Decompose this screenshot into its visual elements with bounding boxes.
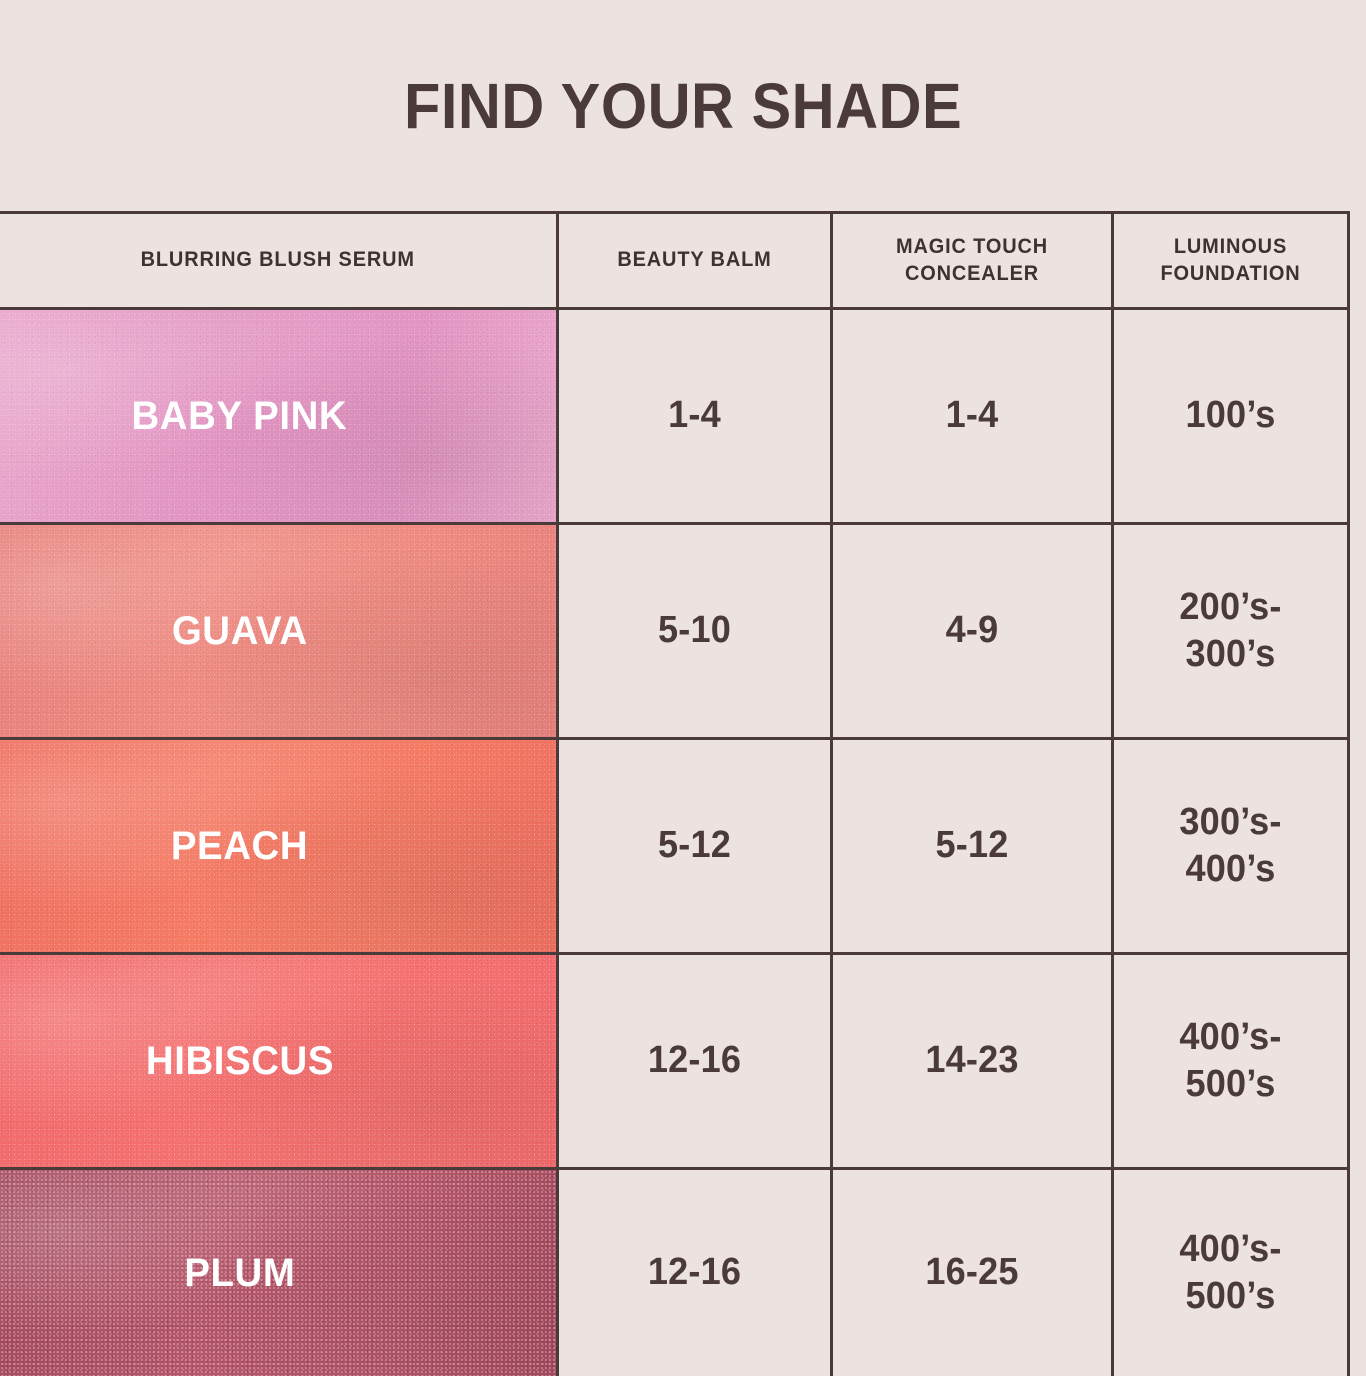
cell-concealer: 14-23 <box>831 954 1112 1169</box>
column-header-concealer-label: MAGIC TOUCH CONCEALER <box>849 234 1094 288</box>
cell-balm: 12-16 <box>557 1169 831 1376</box>
cell-concealer: 5-12 <box>831 739 1112 954</box>
column-header-balm: BEAUTY BALM <box>557 213 831 309</box>
column-header-foundation: LUMINOUS FOUNDATION <box>1112 213 1348 309</box>
cell-value: 14-23 <box>839 1037 1103 1084</box>
swatch-label: PLUM <box>184 1251 295 1296</box>
table-row: GUAVA 5-10 4-9 200’s- 300’s <box>0 524 1348 739</box>
column-header-blush-label: BLURRING BLUSH SERUM <box>23 247 532 274</box>
table-header-row: BLURRING BLUSH SERUM BEAUTY BALM MAGIC T… <box>0 213 1348 309</box>
cell-foundation: 100’s <box>1112 309 1348 524</box>
cell-value: 300’s- 400’s <box>1119 799 1340 893</box>
cell-foundation: 200’s- 300’s <box>1112 524 1348 739</box>
page-title: FIND YOUR SHADE <box>404 74 962 138</box>
cell-concealer: 4-9 <box>831 524 1112 739</box>
table-row: BABY PINK 1-4 1-4 100’s <box>0 309 1348 524</box>
shade-match-table: BLURRING BLUSH SERUM BEAUTY BALM MAGIC T… <box>0 211 1350 1376</box>
cell-balm: 12-16 <box>557 954 831 1169</box>
swatch-label: GUAVA <box>172 609 308 654</box>
column-header-blush: BLURRING BLUSH SERUM <box>0 213 557 309</box>
shade-finder-page: FIND YOUR SHADE BLURRING BLUSH SERUM BEA… <box>0 0 1366 1366</box>
cell-value: 200’s- 300’s <box>1119 584 1340 678</box>
table-row: PEACH 5-12 5-12 300’s- 400’s <box>0 739 1348 954</box>
shade-swatch-plum[interactable]: PLUM <box>0 1169 557 1376</box>
table-row: PLUM 12-16 16-25 400’s- 500’s <box>0 1169 1348 1376</box>
shade-swatch-guava[interactable]: GUAVA <box>0 524 557 739</box>
swatch-fill: PLUM <box>0 1170 556 1376</box>
cell-value: 1-4 <box>839 392 1103 439</box>
title-area: FIND YOUR SHADE <box>0 0 1366 211</box>
cell-foundation: 400’s- 500’s <box>1112 954 1348 1169</box>
cell-value: 5-10 <box>565 607 822 654</box>
column-header-foundation-label: LUMINOUS FOUNDATION <box>1129 234 1331 288</box>
cell-balm: 5-12 <box>557 739 831 954</box>
cell-value: 4-9 <box>839 607 1103 654</box>
cell-balm: 1-4 <box>557 309 831 524</box>
swatch-label: PEACH <box>171 824 308 869</box>
cell-foundation: 400’s- 500’s <box>1112 1169 1348 1376</box>
swatch-fill: PEACH <box>0 740 556 952</box>
cell-value: 100’s <box>1119 392 1340 439</box>
cell-concealer: 1-4 <box>831 309 1112 524</box>
cell-value: 400’s- 500’s <box>1119 1014 1340 1108</box>
cell-foundation: 300’s- 400’s <box>1112 739 1348 954</box>
cell-value: 1-4 <box>565 392 822 439</box>
swatch-label: BABY PINK <box>132 394 348 439</box>
cell-value: 12-16 <box>565 1037 822 1084</box>
table-row: HIBISCUS 12-16 14-23 400’s- 500’s <box>0 954 1348 1169</box>
swatch-fill: GUAVA <box>0 525 556 737</box>
cell-value: 5-12 <box>565 822 822 869</box>
swatch-label: HIBISCUS <box>146 1039 334 1084</box>
cell-value: 16-25 <box>839 1249 1103 1296</box>
cell-balm: 5-10 <box>557 524 831 739</box>
cell-value: 12-16 <box>565 1249 822 1296</box>
shade-swatch-peach[interactable]: PEACH <box>0 739 557 954</box>
column-header-balm-label: BEAUTY BALM <box>575 247 813 274</box>
column-header-concealer: MAGIC TOUCH CONCEALER <box>831 213 1112 309</box>
shade-swatch-baby-pink[interactable]: BABY PINK <box>0 309 557 524</box>
cell-value: 5-12 <box>839 822 1103 869</box>
swatch-fill: BABY PINK <box>0 310 556 522</box>
cell-value: 400’s- 500’s <box>1119 1226 1340 1320</box>
table-body: BABY PINK 1-4 1-4 100’s <box>0 309 1348 1376</box>
shade-swatch-hibiscus[interactable]: HIBISCUS <box>0 954 557 1169</box>
swatch-fill: HIBISCUS <box>0 955 556 1167</box>
cell-concealer: 16-25 <box>831 1169 1112 1376</box>
